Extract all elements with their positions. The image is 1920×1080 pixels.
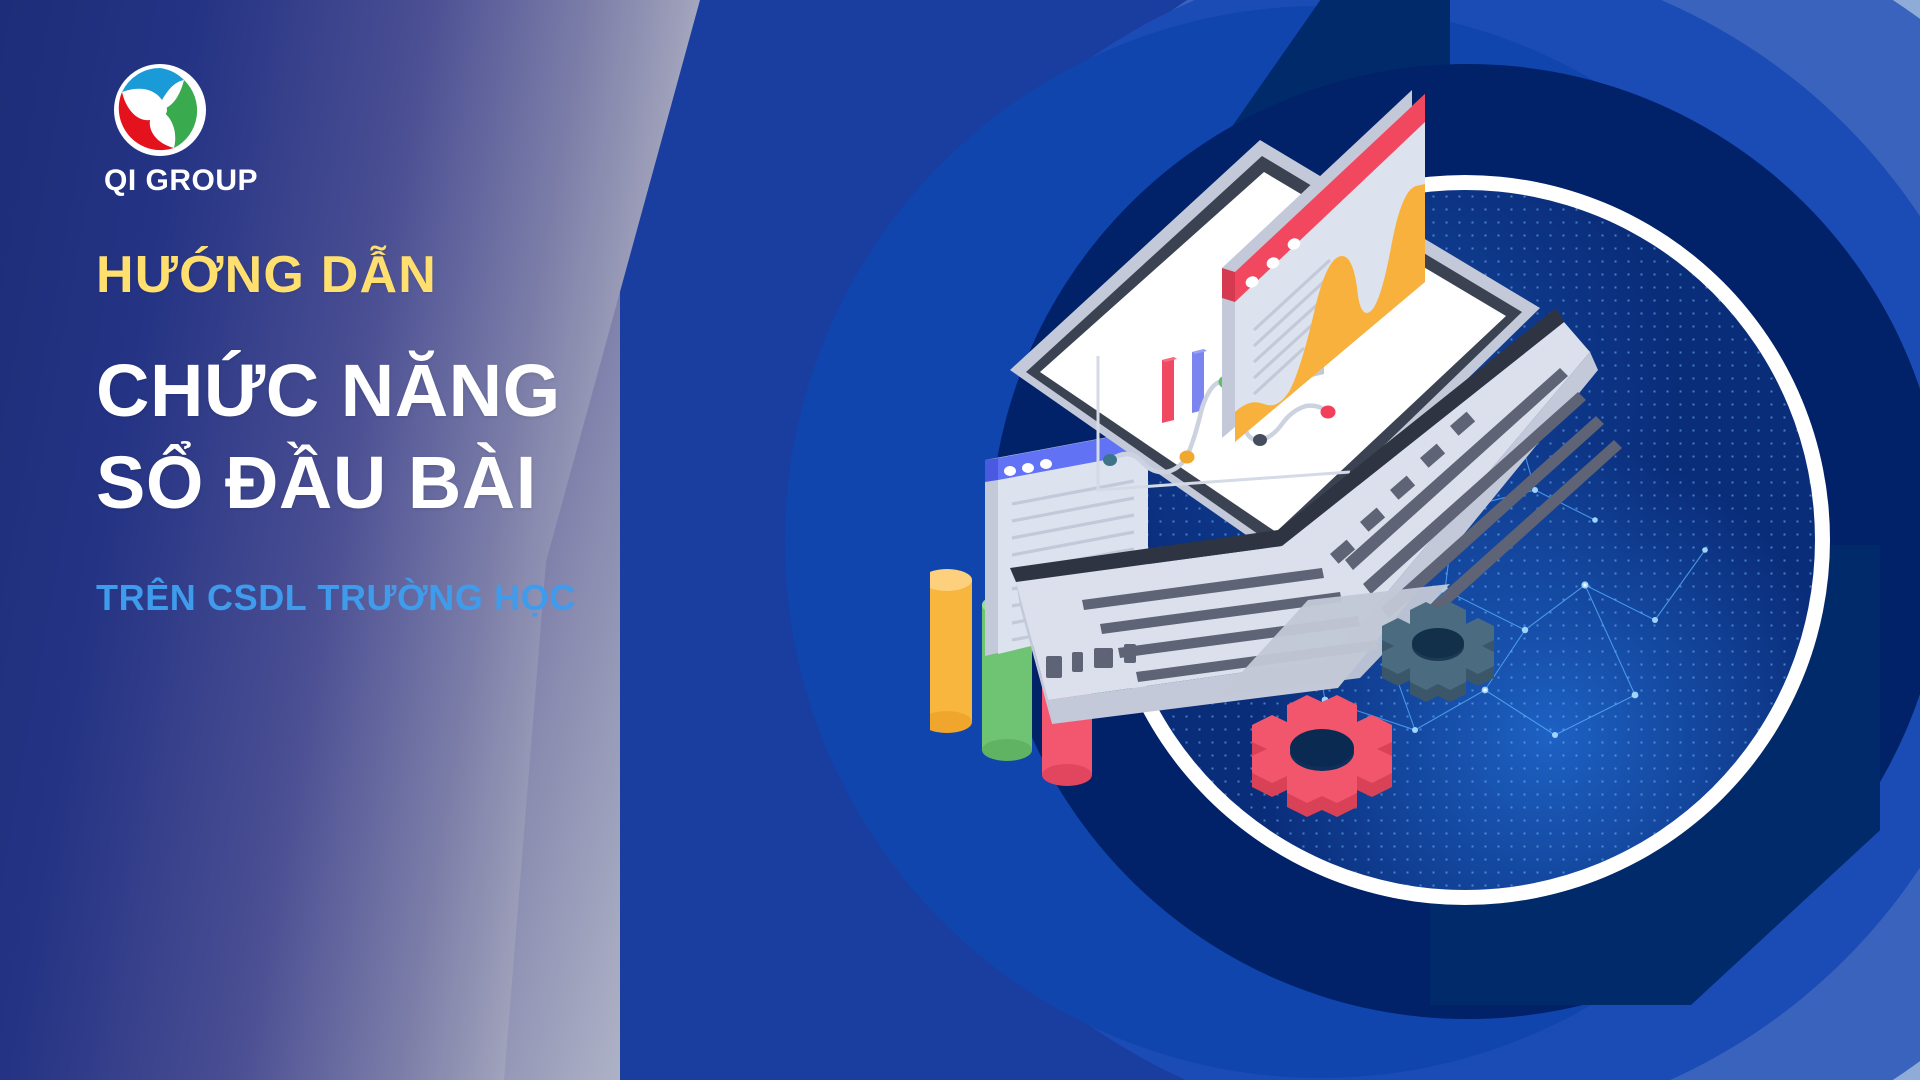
illustration-svg — [930, 60, 1920, 1060]
point-dark — [1253, 434, 1267, 446]
point-orange — [1180, 451, 1195, 464]
hero-content: QI GROUP HƯỚNG DẪN CHỨC NĂNG SỔ ĐẦU BÀI … — [96, 62, 656, 619]
hero-subhead: TRÊN CSDL TRƯỜNG HỌC — [96, 577, 656, 619]
qi-group-pinwheel-logo-icon — [112, 62, 208, 158]
point-red — [1321, 406, 1336, 419]
hero-kicker: HƯỚNG DẪN — [96, 248, 656, 303]
brand-logo: QI GROUP — [96, 62, 656, 198]
cylinder-amber — [930, 569, 972, 733]
brand-logo-text: QI GROUP — [104, 164, 656, 198]
point-teal — [1103, 454, 1117, 466]
hero-illustration — [930, 60, 1920, 1060]
hero-headline-line-2: SỔ ĐẦU BÀI — [96, 437, 656, 529]
gear-red — [1252, 695, 1392, 817]
banner-root: QI GROUP HƯỚNG DẪN CHỨC NĂNG SỔ ĐẦU BÀI … — [0, 0, 1920, 1080]
hero-headline: CHỨC NĂNG SỔ ĐẦU BÀI — [96, 345, 656, 529]
hero-headline-line-1: CHỨC NĂNG — [96, 345, 656, 437]
gear-slate — [1382, 602, 1494, 702]
